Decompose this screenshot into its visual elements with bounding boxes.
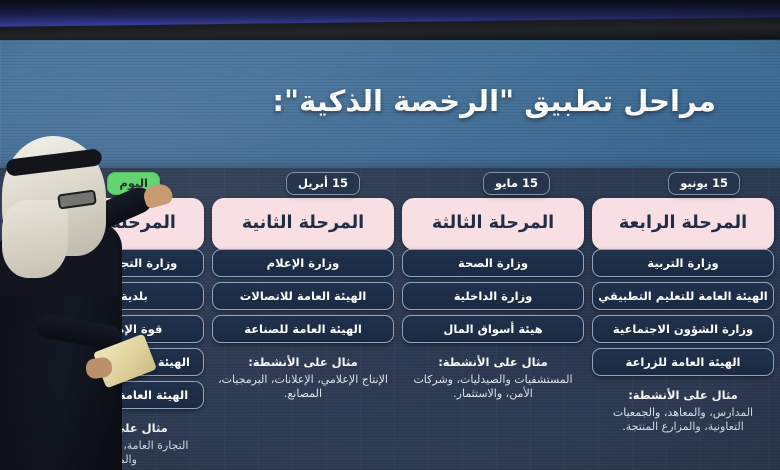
phase-4-activities-label: مثال على الأنشطة: <box>592 388 774 404</box>
phase-2-date-badge: 15 أبريل <box>286 172 360 195</box>
phase-3-title: المرحلة الثالثة <box>432 213 554 235</box>
screenshot-root: مراحل تطبيق "الرخصة الذكية": 15 يونيو ال… <box>0 0 780 470</box>
phase-2-activities-label: مثال على الأنشطة: <box>212 355 394 371</box>
slide-title: مراحل تطبيق "الرخصة الذكية": <box>272 84 716 118</box>
phase-4-activities-text: المدارس، والمعاهد، والجمعيات التعاونية، … <box>592 406 774 436</box>
phase-2-activities-text: الإنتاج الإعلامي، الإعلانات، البرمجيات، … <box>212 373 394 403</box>
phase-4-activities: مثال على الأنشطة: المدارس، والمعاهد، وال… <box>592 388 774 435</box>
phase-2-header-card: المرحلة الثانية <box>212 198 394 250</box>
presenter-ghutra-fold <box>2 200 68 278</box>
list-item[interactable]: الهيئة العامة للصناعة <box>212 315 394 343</box>
presenter-silhouette <box>0 130 184 470</box>
phase-4-date-badge: 15 يونيو <box>668 172 740 195</box>
phase-3-date-badge: 15 مايو <box>483 172 550 195</box>
phase-3-activities: مثال على الأنشطة: المستشفيات والصيدليات،… <box>402 355 584 402</box>
phase-2-activities: مثال على الأنشطة: الإنتاج الإعلامي، الإع… <box>212 355 394 402</box>
phase-2-items: وزارة الإعلام الهيئة العامة للاتصالات ال… <box>212 249 394 343</box>
list-item[interactable]: وزارة الصحة <box>402 249 584 277</box>
phase-4-header-card: المرحلة الرابعة <box>592 198 774 250</box>
list-item[interactable]: وزارة التربية <box>592 249 774 277</box>
list-item[interactable]: وزارة الداخلية <box>402 282 584 310</box>
phase-2-title: المرحلة الثانية <box>242 213 364 235</box>
list-item[interactable]: وزارة الشؤون الاجتماعية <box>592 315 774 343</box>
list-item[interactable]: الهيئة العامة للزراعة <box>592 348 774 376</box>
phase-4-items: وزارة التربية الهيئة العامة للتعليم التط… <box>592 249 774 376</box>
phase-column-4[interactable]: 15 يونيو المرحلة الرابعة وزارة التربية ا… <box>592 168 774 470</box>
phase-3-items: وزارة الصحة وزارة الداخلية هيئة أسواق ال… <box>402 249 584 343</box>
list-item[interactable]: الهيئة العامة للتعليم التطبيقي <box>592 282 774 310</box>
phase-3-header-card: المرحلة الثالثة <box>402 198 584 250</box>
phase-4-title: المرحلة الرابعة <box>619 213 747 235</box>
presenter-pointing-hand <box>142 182 175 210</box>
phase-column-3[interactable]: 15 مايو المرحلة الثالثة وزارة الصحة وزار… <box>402 168 584 470</box>
list-item[interactable]: وزارة الإعلام <box>212 249 394 277</box>
phase-3-activities-label: مثال على الأنشطة: <box>402 355 584 371</box>
list-item[interactable]: الهيئة العامة للاتصالات <box>212 282 394 310</box>
list-item[interactable]: هيئة أسواق المال <box>402 315 584 343</box>
phase-3-activities-text: المستشفيات والصيدليات، وشركات الأمن، وال… <box>402 373 584 403</box>
phase-column-2[interactable]: 15 أبريل المرحلة الثانية وزارة الإعلام ا… <box>212 168 394 470</box>
